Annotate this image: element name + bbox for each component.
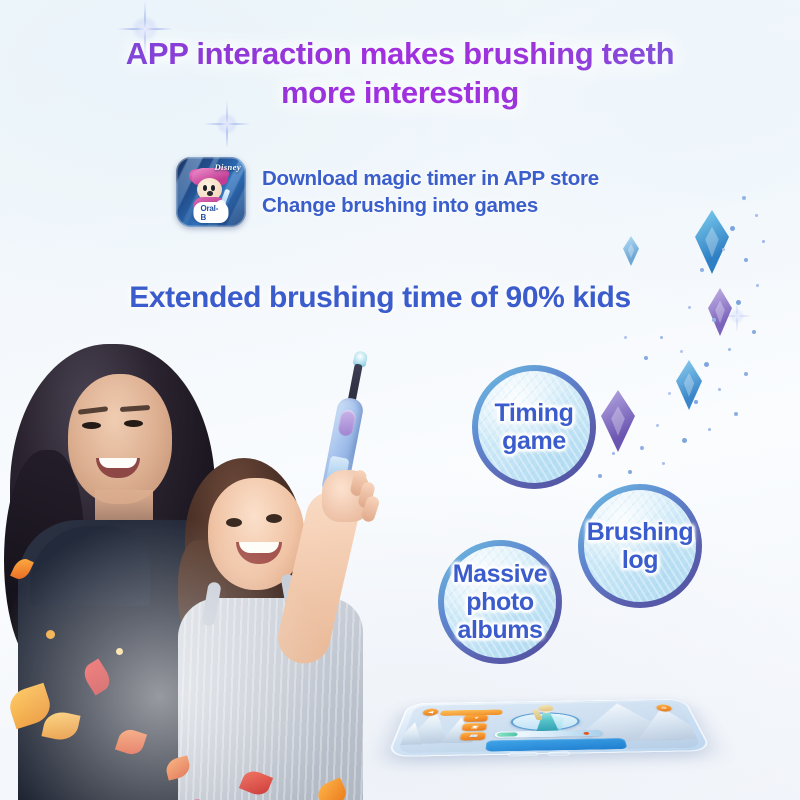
app-promo-line-1: Download magic timer in APP store [262, 165, 599, 192]
phone-screen[interactable]: ◀ ⚙ ✦ ▣ 📖 [397, 702, 702, 754]
feature-bubble-timing-game[interactable]: Timing game [472, 365, 596, 489]
crystal-icon [601, 390, 635, 452]
settings-gear-button[interactable]: ⚙ [655, 704, 673, 711]
page-title: APP interaction makes brushing teeth mor… [0, 34, 800, 113]
disney-wordmark: Disney [215, 162, 241, 172]
app-promo-line-2: Change brushing into games [262, 192, 599, 219]
stat-headline: Extended brushing time of 90% kids [0, 281, 760, 315]
crystal-icon [676, 360, 702, 410]
family-photo [0, 330, 420, 800]
bubble-label: Brushing log [578, 518, 702, 574]
bubble-label: Timing game [472, 399, 596, 455]
feature-bubble-brushing-log[interactable]: Brushing log [578, 484, 702, 608]
volume-button[interactable] [508, 752, 538, 756]
story-book-button[interactable]: 📖 [460, 732, 486, 741]
app-icon-oral-b-disney[interactable]: Disney Oral-B [176, 157, 246, 227]
elsa-character [531, 705, 563, 732]
promo-canvas: APP interaction makes brushing teeth mor… [0, 0, 800, 800]
bubble-label: Massive photo albums [438, 560, 562, 644]
volume-button[interactable] [548, 752, 570, 756]
phone-mockup[interactable]: ◀ ⚙ ✦ ▣ 📖 [387, 699, 713, 757]
headline-line-2: more interesting [281, 75, 519, 110]
headline-line-1: APP interaction makes brushing teeth [126, 36, 675, 71]
app-primary-action-button[interactable] [440, 710, 503, 716]
oral-b-badge: Oral-B [194, 202, 229, 223]
app-promo-text: Download magic timer in APP store Change… [262, 165, 599, 220]
app-promo-row: Disney Oral-B Download magic timer in AP… [176, 157, 599, 227]
crystal-icon [623, 236, 639, 266]
feature-bubble-photo-albums[interactable]: Massive photo albums [438, 540, 562, 664]
photo-card-button[interactable]: ▣ [462, 723, 487, 731]
crystal-icon [695, 210, 729, 274]
